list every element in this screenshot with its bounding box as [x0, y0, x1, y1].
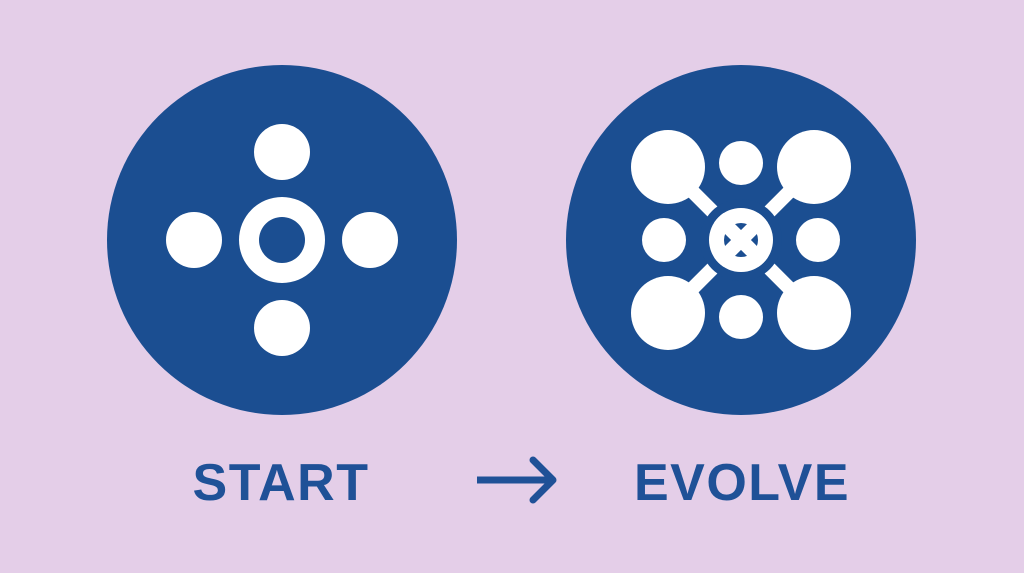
node-north-dot: [719, 141, 763, 185]
node-south-dot: [254, 300, 310, 356]
stage-evolve[interactable]: [566, 65, 916, 415]
node-west-dot: [642, 218, 686, 262]
start-label: START: [193, 454, 370, 512]
evolve-label: EVOLVE: [634, 454, 850, 512]
poster-canvas: START EVOLVE: [0, 0, 1024, 573]
node-south-east-dot: [777, 276, 851, 350]
evolve-icon: [631, 130, 851, 350]
node-west-dot: [166, 212, 222, 268]
node-east-dot: [796, 218, 840, 262]
node-north-west-dot: [631, 130, 705, 204]
start-to-evolve-diagram: START EVOLVE: [0, 0, 1024, 573]
node-north-dot: [254, 124, 310, 180]
start-badge-circle[interactable]: [107, 65, 457, 415]
node-north-east-dot: [777, 130, 851, 204]
node-east-dot: [342, 212, 398, 268]
node-south-dot: [719, 295, 763, 339]
node-south-west-dot: [631, 276, 705, 350]
stage-start[interactable]: [107, 65, 457, 415]
